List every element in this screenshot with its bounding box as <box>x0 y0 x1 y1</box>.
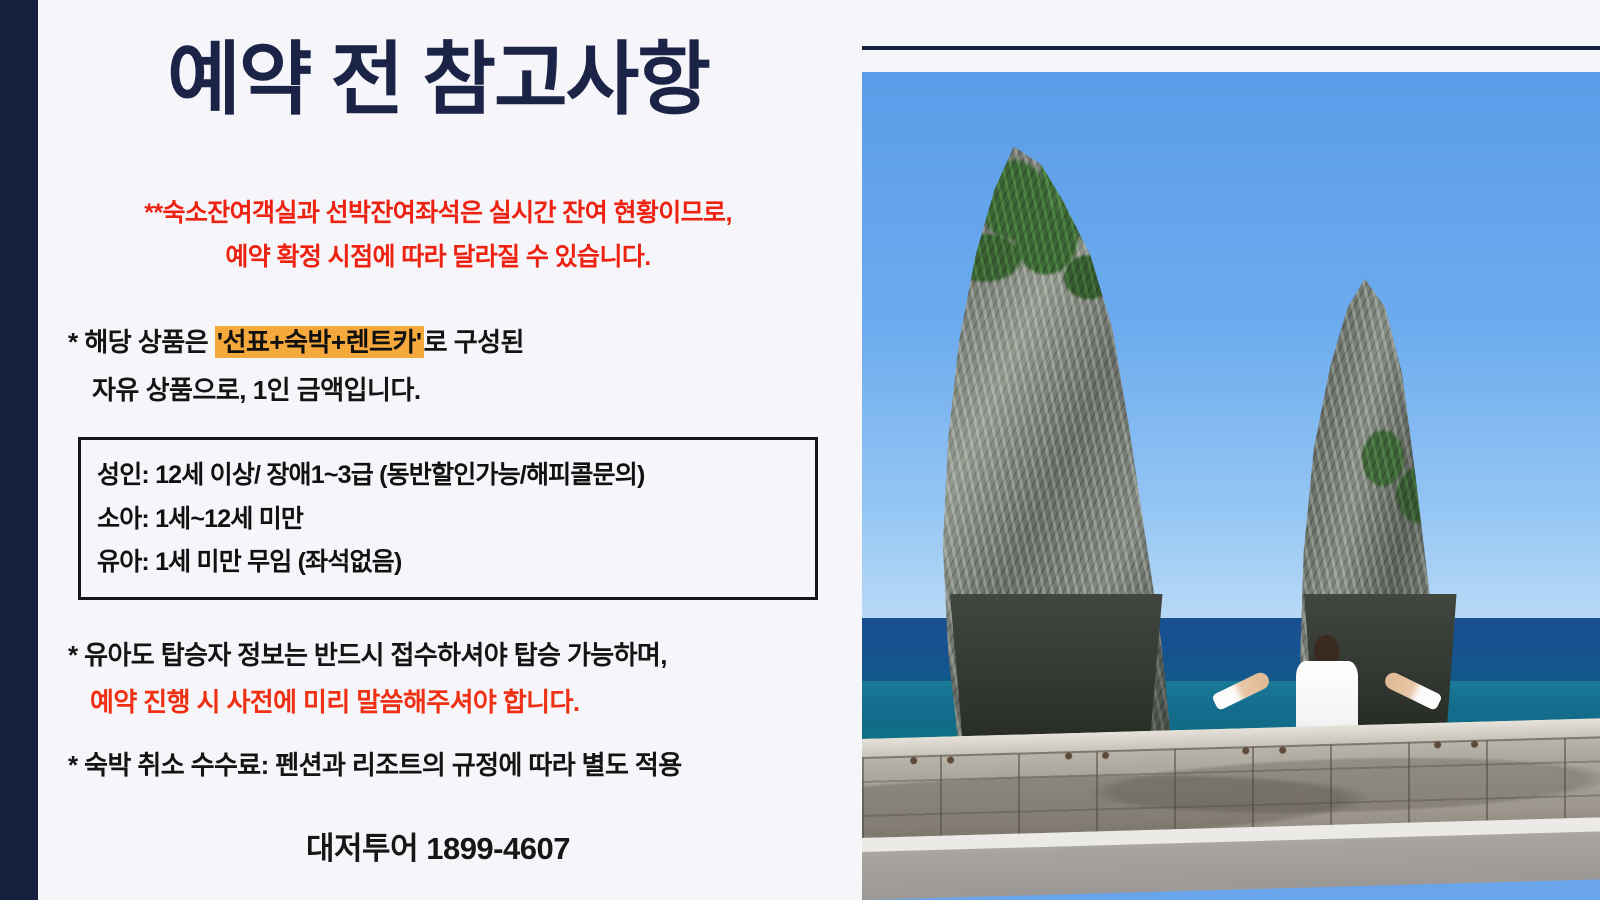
age-row-child: 소아: 1세~12세 미만 <box>97 498 799 542</box>
product-line-2: 자유 상품으로, 1인 금액입니다. <box>68 366 838 414</box>
product-highlight: '선표+숙박+렌트카' <box>215 326 424 358</box>
page-title: 예약 전 참고사항 <box>38 38 838 122</box>
age-policy-box: 성인: 12세 이상/ 장애1~3급 (동반할인가능/해피콜문의) 소아: 1세… <box>78 437 818 600</box>
poster-root: 예약 전 참고사항 **숙소잔여객실과 선박잔여좌석은 실시간 잔여 현황이므로… <box>0 0 1600 900</box>
notice-red-line-1: **숙소잔여객실과 선박잔여좌석은 실시간 잔여 현황이므로, <box>38 192 838 236</box>
product-composition-notice: * 해당 상품은 '선표+숙박+렌트카'로 구성된 자유 상품으로, 1인 금액… <box>68 318 838 414</box>
age-row-infant: 유아: 1세 미만 무임 (좌석없음) <box>97 541 799 585</box>
infant-notice-line-2: 예약 진행 시 사전에 미리 말씀해주셔야 합니다. <box>68 679 838 726</box>
left-accent-bar <box>0 0 38 900</box>
cancellation-fee-notice: * 숙박 취소 수수료: 펜션과 리조트의 규정에 따라 별도 적용 <box>68 745 838 782</box>
infant-boarding-notice: * 유아도 탑승자 정보는 반드시 접수하셔야 탑승 가능하며, 예약 진행 시… <box>68 632 838 726</box>
product-prefix: * 해당 상품은 <box>68 327 215 357</box>
text-column: 예약 전 참고사항 **숙소잔여객실과 선박잔여좌석은 실시간 잔여 현황이므로… <box>38 0 838 900</box>
scenery-photo <box>862 72 1600 900</box>
age-row-adult: 성인: 12세 이상/ 장애1~3급 (동반할인가능/해피콜문의) <box>97 454 799 498</box>
product-suffix: 로 구성된 <box>424 327 524 357</box>
product-line-1: * 해당 상품은 '선표+숙박+렌트카'로 구성된 <box>68 318 838 366</box>
company-contact-footer: 대저투어 1899-4607 <box>38 823 838 868</box>
notice-red-line-2: 예약 확정 시점에 따라 달라질 수 있습니다. <box>38 236 838 280</box>
realtime-availability-notice: **숙소잔여객실과 선박잔여좌석은 실시간 잔여 현황이므로, 예약 확정 시점… <box>38 192 838 280</box>
infant-notice-line-1: * 유아도 탑승자 정보는 반드시 접수하셔야 탑승 가능하며, <box>68 632 838 679</box>
photo-top-rule <box>862 46 1600 50</box>
